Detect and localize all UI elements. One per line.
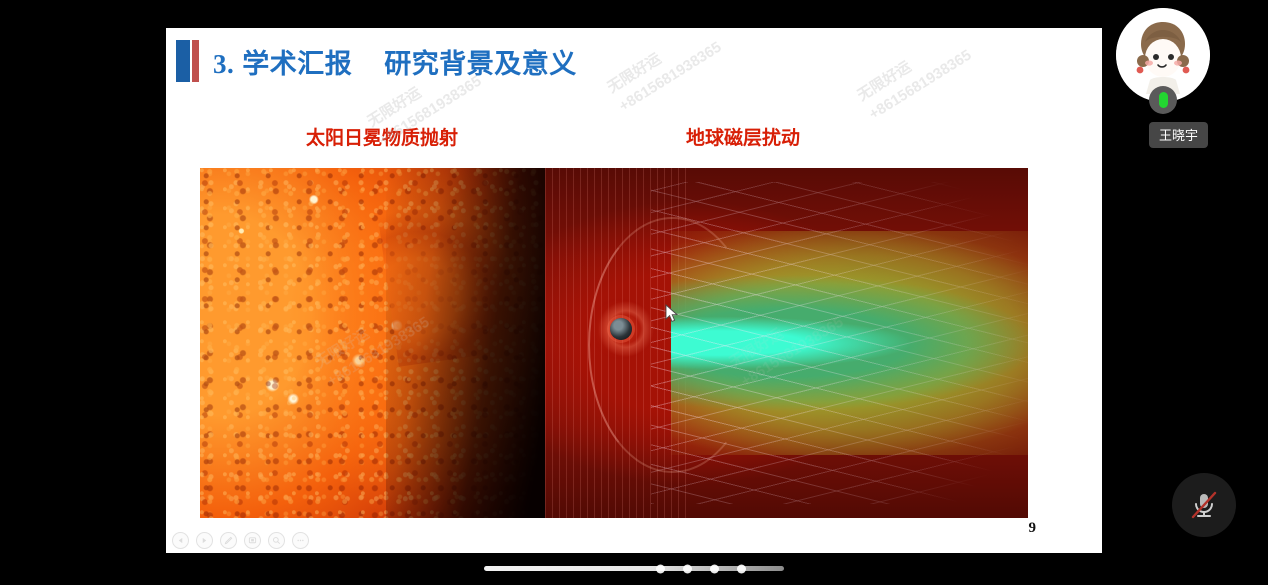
- microphone-muted-button[interactable]: [1172, 473, 1236, 537]
- watermark-line2: +8615681938365: [615, 37, 726, 118]
- slide-page-number: 9: [1029, 520, 1037, 537]
- triangle-right-icon: [201, 537, 208, 544]
- page-title: 3. 学术汇报 研究背景及意义: [213, 42, 577, 81]
- sun-space-background: [386, 168, 545, 518]
- next-slide-button[interactable]: [196, 532, 213, 549]
- slide-watermark-3: 无限好运 +8615681938365: [853, 28, 975, 125]
- slide-title-row: 3. 学术汇报 研究背景及意义: [176, 38, 577, 84]
- page-dot[interactable]: [683, 564, 692, 573]
- earth-magnetosphere-simulation-image: 无限好运 +8615681938365: [545, 168, 1028, 518]
- watermark-line2: +8615681938365: [865, 45, 976, 126]
- accent-bar-red: [192, 40, 199, 82]
- more-options-button[interactable]: [292, 532, 309, 549]
- solar-coronal-mass-ejection-image: 无限好运 +8615681938365: [200, 168, 545, 518]
- pen-icon: [224, 536, 233, 545]
- page-dot[interactable]: [710, 564, 719, 573]
- mic-active-indicator: [1159, 92, 1168, 108]
- prev-slide-button[interactable]: [172, 532, 189, 549]
- triangle-left-icon: [177, 537, 184, 544]
- title-section: 学术汇报: [242, 49, 352, 79]
- participant-tile[interactable]: [1116, 8, 1210, 102]
- cursor-arrow-icon: [665, 304, 679, 324]
- present-screen-button[interactable]: [244, 532, 261, 549]
- watermark-line1: 无限好运: [603, 28, 714, 99]
- page-dot[interactable]: [737, 564, 746, 573]
- earth-globe: [610, 318, 632, 340]
- page-dot[interactable]: [656, 564, 665, 573]
- heading-solar-cme: 太阳日冕物质抛射: [306, 123, 458, 150]
- presentation-slide[interactable]: 3. 学术汇报 研究背景及意义 太阳日冕物质抛射 地球磁层扰动 无限好运 +86…: [166, 28, 1102, 553]
- magnifier-icon: [272, 536, 281, 545]
- microphone-muted-icon: [1187, 488, 1221, 522]
- heading-magnetosphere: 地球磁层扰动: [686, 123, 800, 150]
- title-accent-bars: [176, 40, 199, 82]
- slide-figure: 无限好运 +8615681938365 无限好运 +8615681938365: [200, 168, 1028, 518]
- indicator-track[interactable]: [484, 566, 784, 571]
- meeting-screen-share-view: 3. 学术汇报 研究背景及意义 太阳日冕物质抛射 地球磁层扰动 无限好运 +86…: [0, 0, 1268, 585]
- zoom-button[interactable]: [268, 532, 285, 549]
- title-number: 3.: [213, 49, 234, 79]
- accent-bar-blue: [176, 40, 190, 82]
- bottom-indicator-bar[interactable]: [0, 566, 1268, 571]
- page-dots[interactable]: [656, 564, 746, 573]
- ellipsis-icon: [296, 536, 305, 545]
- slide-toolbar: [172, 532, 309, 549]
- watermark-line1: 无限好运: [853, 28, 964, 107]
- screen-icon: [248, 536, 257, 545]
- slide-watermark-2: 无限好运 +8615681938365: [603, 28, 725, 117]
- annotate-pen-button[interactable]: [220, 532, 237, 549]
- mic-status-badge: [1149, 86, 1177, 114]
- mouse-cursor: [665, 304, 679, 329]
- participant-name-label: 王晓宇: [1149, 122, 1208, 148]
- title-subject: 研究背景及意义: [384, 49, 577, 79]
